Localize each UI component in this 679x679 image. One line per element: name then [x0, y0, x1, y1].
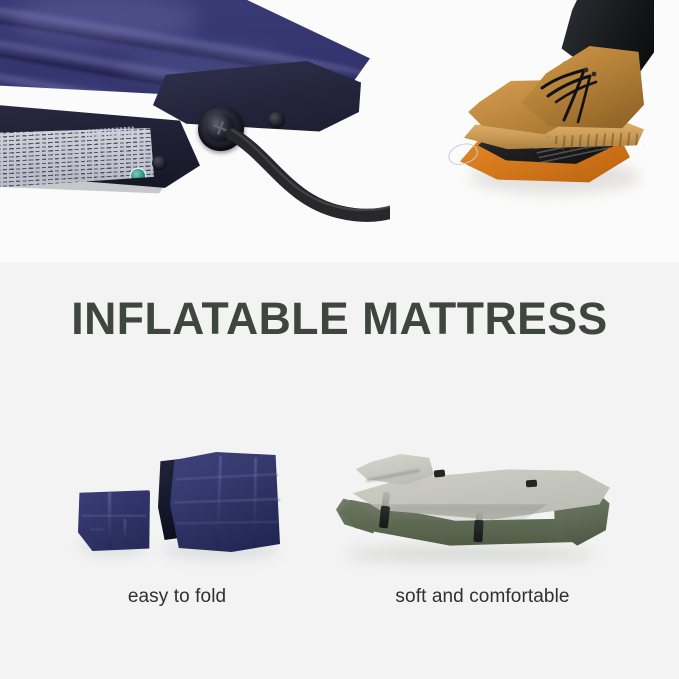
caption-easy-to-fold: easy to fold — [58, 586, 296, 608]
folded-mattress-bundle — [158, 452, 280, 552]
valve-plug-secondary — [152, 156, 167, 170]
folded-mattress-small — [78, 489, 150, 551]
product-infographic: INFLATABLE MATTRESS easy to fold — [0, 0, 679, 679]
hero-panel — [0, 0, 679, 262]
strap-clip-top-2 — [526, 480, 537, 488]
strap-clip-2 — [473, 520, 483, 542]
inflatable-mattress — [0, 0, 390, 248]
folded-mattress-small-body — [78, 489, 150, 551]
caption-soft-and-comfortable: soft and comfortable — [340, 586, 625, 608]
made-bed-with-pillow — [336, 452, 616, 562]
strap-clip-top-1 — [434, 469, 446, 477]
page-title: INFLATABLE MATTRESS — [3, 296, 675, 341]
valve-plug — [268, 112, 285, 128]
foot-pump-and-boot — [430, 0, 679, 232]
